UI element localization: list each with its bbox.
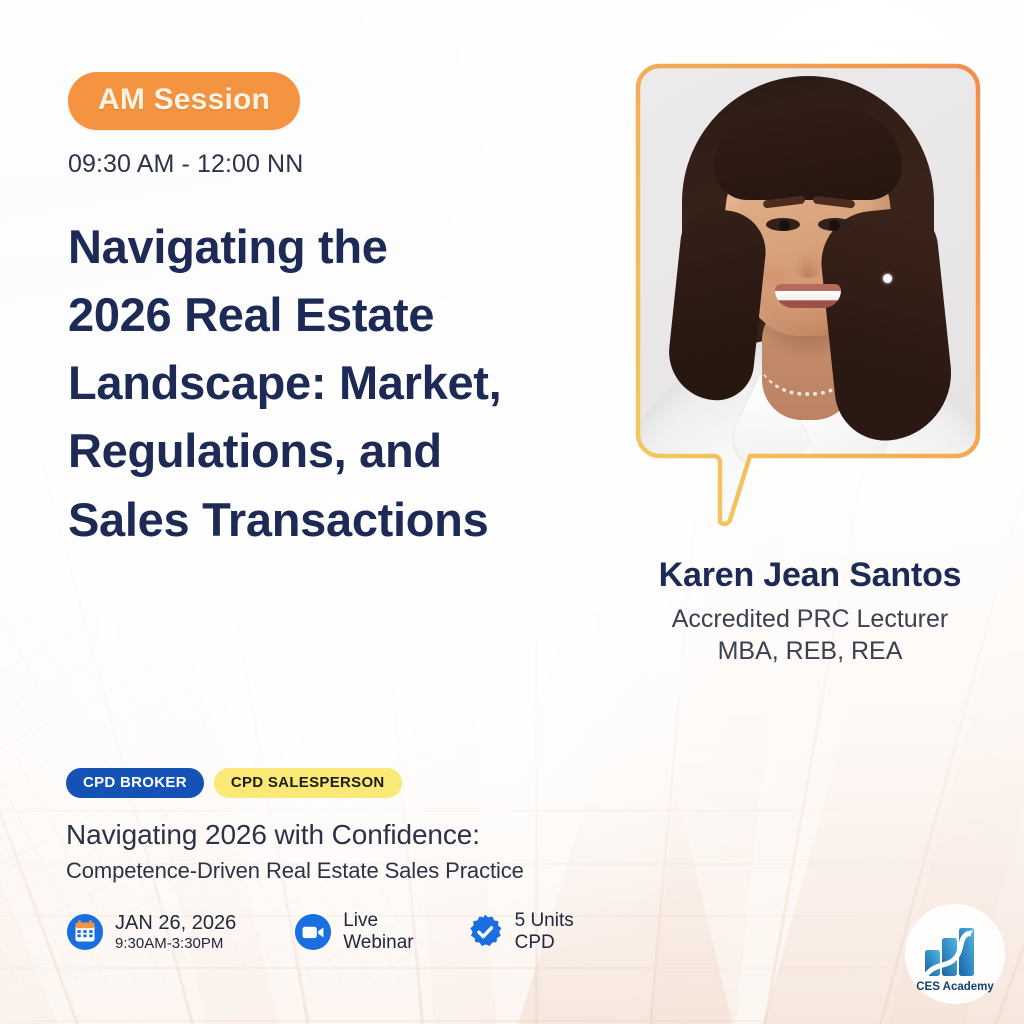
ces-academy-logo: CES Academy	[903, 902, 1007, 1006]
session-badge: AM Session	[68, 72, 300, 130]
session-time: 09:30 AM - 12:00 NN	[68, 150, 608, 179]
speaker-credentials: MBA, REB, REA	[600, 635, 1020, 667]
session-details-column: AM Session 09:30 AM - 12:00 NN Navigatin…	[68, 72, 608, 554]
video-camera-icon	[294, 913, 332, 951]
event-promo-poster: AM Session 09:30 AM - 12:00 NN Navigatin…	[0, 0, 1024, 1024]
calendar-icon	[66, 913, 104, 951]
info-item-format: Live Webinar	[294, 910, 413, 954]
speaker-photo-bubble	[632, 60, 984, 528]
event-time: 9:30AM-3:30PM	[115, 935, 236, 952]
info-item-date: JAN 26, 2026 9:30AM-3:30PM	[66, 912, 236, 953]
program-info-row: JAN 26, 2026 9:30AM-3:30PM Live Webinar	[66, 910, 626, 954]
status-badge-cpd-broker: CPD BROKER	[66, 768, 204, 798]
event-date: JAN 26, 2026	[115, 912, 236, 935]
event-format-line1: Live	[343, 910, 413, 932]
speaker-info: Karen Jean Santos Accredited PRC Lecture…	[600, 556, 1020, 667]
logo-text: CES Academy	[916, 981, 994, 993]
verified-check-icon	[466, 913, 504, 951]
speaker-name: Karen Jean Santos	[600, 556, 1020, 595]
page-title: Navigating the 2026 Real Estate Landscap…	[68, 213, 608, 554]
bubble-frame-outline	[632, 60, 984, 528]
program-headline: Navigating 2026 with Confidence:	[66, 819, 626, 851]
cpd-units: 5 Units	[515, 910, 574, 932]
cpd-tag-row: CPD BROKER CPD SALESPERSON	[66, 768, 626, 798]
program-subhead: Competence-Driven Real Estate Sales Prac…	[66, 858, 626, 884]
event-format-line2: Webinar	[343, 932, 413, 954]
speaker-role: Accredited PRC Lecturer	[600, 603, 1020, 635]
info-item-units: 5 Units CPD	[466, 910, 574, 954]
cpd-label: CPD	[515, 932, 574, 954]
status-badge-cpd-salesperson: CPD SALESPERSON	[214, 768, 402, 798]
program-summary: CPD BROKER CPD SALESPERSON Navigating 20…	[66, 768, 626, 954]
